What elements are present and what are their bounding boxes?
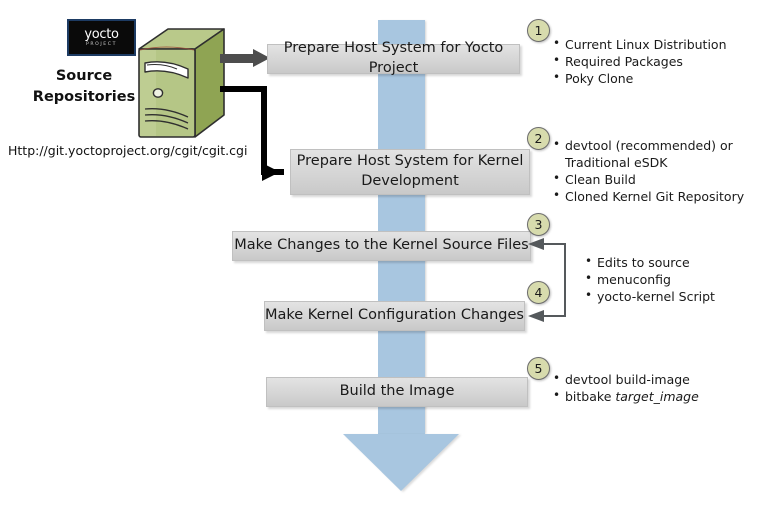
server-tower-icon (133, 27, 225, 142)
step-5-notes-list: devtool build-image bitbake target_image (553, 371, 699, 405)
step-2-notes: devtool (recommended) or Traditional eSD… (553, 137, 744, 205)
bracket-connector-arrowhead-step3 (528, 238, 544, 250)
process-box-make-kernel-source-changes[interactable]: Make Changes to the Kernel Source Files (232, 231, 531, 261)
step-badge-1-number: 1 (535, 23, 543, 38)
bracket-connector-arm-step4 (543, 315, 565, 317)
step-badge-4-number: 4 (535, 285, 543, 300)
step-5-note-command: bitbake (565, 389, 611, 404)
process-box-5-label: Build the Image (340, 382, 455, 402)
bracket-connector-vertical (564, 243, 566, 317)
bracket-connector-arm-step3 (543, 243, 565, 245)
list-item: Cloned Kernel Git Repository (553, 188, 744, 205)
list-item: menuconfig (585, 271, 715, 288)
process-box-4-label: Make Kernel Configuration Changes (265, 306, 524, 326)
steps-3-4-shared-notes: Edits to source menuconfig yocto-kernel … (585, 254, 715, 305)
bracket-connector-arrowhead-step4 (528, 310, 544, 322)
step-badge-2-number: 2 (535, 131, 543, 146)
list-item: Poky Clone (553, 70, 727, 87)
workflow-spine-arrow-shaft (378, 20, 425, 435)
step-badge-5-number: 5 (535, 361, 543, 376)
process-box-build-the-image[interactable]: Build the Image (266, 377, 528, 407)
process-box-2-label-line2: Development (361, 173, 459, 189)
list-item-continuation: Traditional eSDK (553, 154, 744, 171)
step-1-notes-list: Current Linux Distribution Required Pack… (553, 36, 727, 87)
process-box-make-kernel-config-changes[interactable]: Make Kernel Configuration Changes (264, 301, 525, 331)
step-5-note-argument: target_image (615, 389, 698, 404)
list-item: Required Packages (553, 53, 727, 70)
source-repository-url: Http://git.yoctoproject.org/cgit/cgit.cg… (8, 143, 247, 158)
source-label-line1: Source (28, 66, 140, 87)
step-badge-1: 1 (527, 19, 550, 42)
process-box-1-label: Prepare Host System for Yocto Project (268, 39, 519, 78)
list-item: Clean Build (553, 171, 744, 188)
step-2-notes-list: devtool (recommended) or Traditional eSD… (553, 137, 744, 205)
source-label-line2: Repositories (28, 87, 140, 108)
step-1-notes: Current Linux Distribution Required Pack… (553, 36, 727, 87)
yocto-project-logo: yocto PROJECT (67, 19, 136, 56)
workflow-spine-arrow-head (343, 434, 459, 491)
step-5-notes: devtool build-image bitbake target_image (553, 371, 699, 405)
list-item: bitbake target_image (553, 388, 699, 405)
list-item: devtool (recommended) or (553, 137, 744, 154)
list-item: Edits to source (585, 254, 715, 271)
yocto-logo-wordmark: yocto (84, 28, 118, 41)
steps-3-4-notes-list: Edits to source menuconfig yocto-kernel … (585, 254, 715, 305)
step-badge-3-number: 3 (535, 217, 543, 232)
list-item: devtool build-image (553, 371, 699, 388)
source-repositories-label: Source Repositories (28, 66, 140, 108)
step-badge-2: 2 (527, 127, 550, 150)
step-badge-3: 3 (527, 213, 550, 236)
connector-source-to-step2-segment-top (220, 86, 267, 92)
step-badge-4: 4 (527, 281, 550, 304)
connector-source-to-step2-arrowhead (262, 163, 280, 181)
process-box-2-label-line1: Prepare Host System for Kernel (297, 153, 524, 169)
process-box-3-label: Make Changes to the Kernel Source Files (234, 236, 528, 256)
yocto-logo-subtext: PROJECT (86, 43, 117, 48)
process-box-2-label: Prepare Host System for Kernel Developme… (297, 152, 524, 191)
list-item: yocto-kernel Script (585, 288, 715, 305)
step-badge-5: 5 (527, 357, 550, 380)
diagram-canvas: yocto PROJECT Source Repositories Http:/… (0, 0, 769, 517)
process-box-prepare-host-yocto[interactable]: Prepare Host System for Yocto Project (267, 44, 520, 74)
connector-source-to-step2-segment-vertical (261, 86, 267, 170)
list-item: Current Linux Distribution (553, 36, 727, 53)
process-box-prepare-host-kernel[interactable]: Prepare Host System for Kernel Developme… (290, 149, 530, 195)
